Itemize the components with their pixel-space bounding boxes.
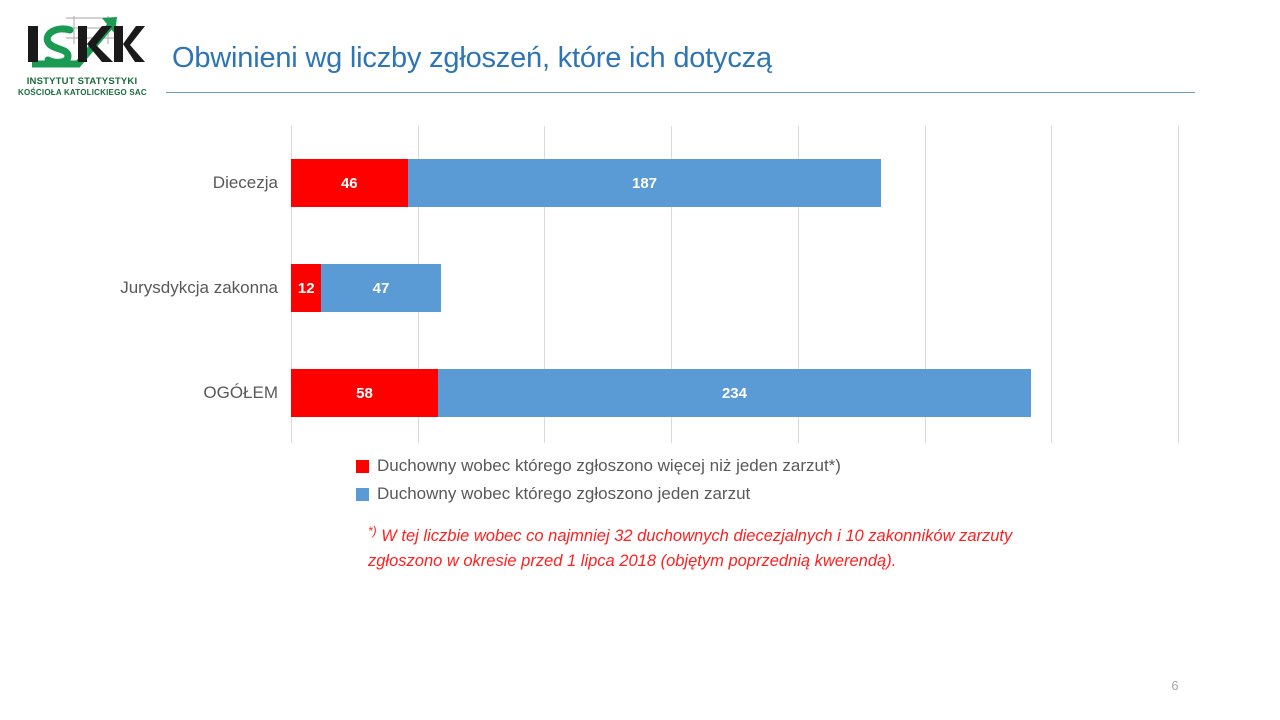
bar-segment-red[interactable]: 58: [291, 369, 438, 417]
legend-swatch-red-icon: [356, 460, 369, 473]
page-number: 6: [1160, 678, 1190, 693]
footnote-text: W tej liczbie wobec co najmniej 32 ducho…: [368, 527, 1012, 570]
chart-gridline: [1178, 126, 1179, 443]
legend-label-more-than-one: Duchowny wobec którego zgłoszono więcej …: [377, 456, 841, 476]
legend-item-one-charge[interactable]: Duchowny wobec którego zgłoszono jeden z…: [356, 480, 841, 508]
bar-segment-red[interactable]: 46: [291, 159, 408, 207]
bar-segment-red[interactable]: 12: [291, 264, 321, 312]
bar-row-jurysdykcja-zakonna[interactable]: 12 47: [291, 264, 441, 312]
footnote: *) W tej liczbie wobec co najmniej 32 du…: [368, 519, 1078, 574]
bar-row-diecezja[interactable]: 46 187: [291, 159, 881, 207]
category-label-diecezja: Diecezja: [60, 173, 278, 193]
legend-item-more-than-one[interactable]: Duchowny wobec którego zgłoszono więcej …: [356, 452, 841, 480]
category-label-ogolem: OGÓŁEM: [60, 383, 278, 403]
bar-segment-blue[interactable]: 187: [408, 159, 882, 207]
legend-swatch-blue-icon: [356, 488, 369, 501]
legend-label-one-charge: Duchowny wobec którego zgłoszono jeden z…: [377, 484, 750, 504]
stacked-bar-chart: Diecezja Jurysdykcja zakonna OGÓŁEM 46 1…: [0, 0, 1280, 720]
bar-segment-blue[interactable]: 234: [438, 369, 1031, 417]
chart-legend: Duchowny wobec którego zgłoszono więcej …: [356, 452, 841, 508]
bar-row-ogolem[interactable]: 58 234: [291, 369, 1031, 417]
category-label-jurysdykcja-zakonna: Jurysdykcja zakonna: [60, 278, 278, 298]
chart-gridline: [1051, 126, 1052, 443]
footnote-marker: *): [368, 524, 377, 538]
bar-segment-blue[interactable]: 47: [321, 264, 440, 312]
